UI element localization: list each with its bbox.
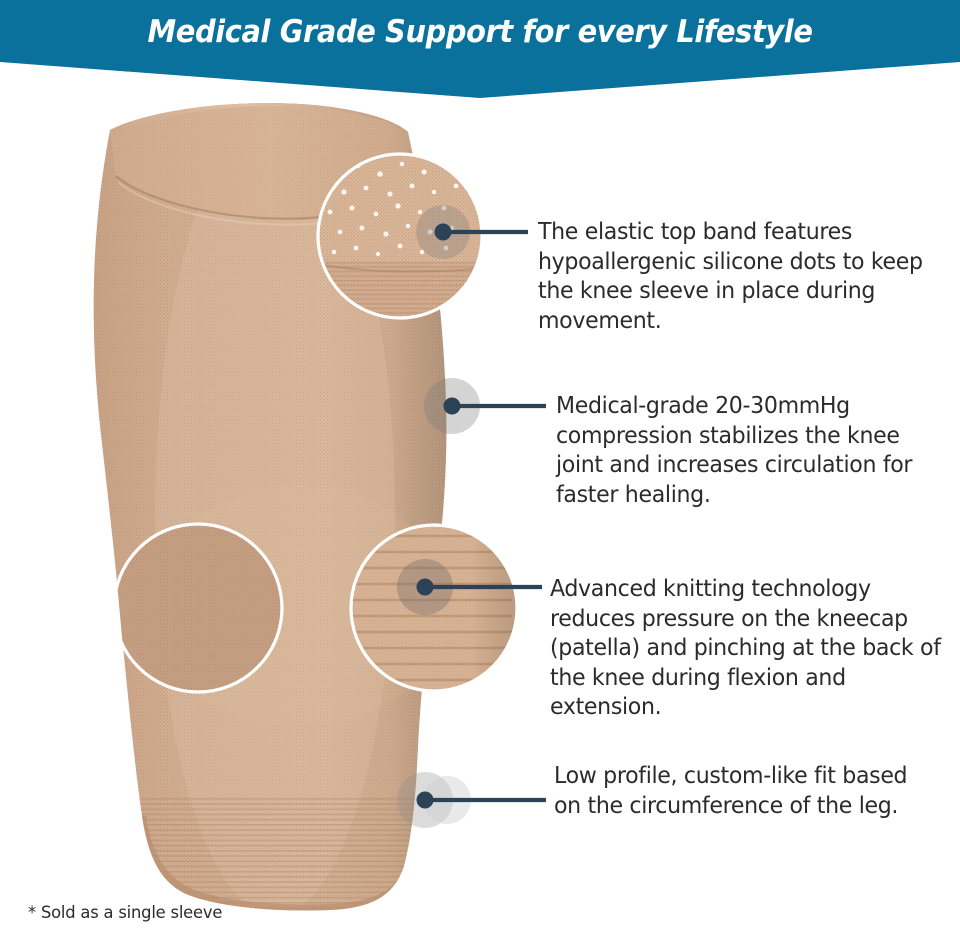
footnote: * Sold as a single sleeve <box>28 903 222 923</box>
marker-dot-4 <box>417 792 434 809</box>
feature-text-low-profile-fit: Low profile, custom-like fit based on th… <box>554 762 938 821</box>
callout-silicone-top-band[interactable] <box>416 205 528 259</box>
marker-dot-1 <box>435 224 452 241</box>
feature-text-compression-level: Medical-grade 20-30mmHg compression stab… <box>556 392 942 510</box>
callout-low-profile-fit[interactable] <box>397 772 546 828</box>
infographic-canvas: Medical Grade Support for every Lifestyl… <box>0 0 960 938</box>
feature-text-knitting-technology: Advanced knitting technology reduces pre… <box>550 575 944 723</box>
marker-dot-3 <box>417 579 434 596</box>
callout-knitting-technology[interactable] <box>397 559 542 615</box>
callout-compression-level[interactable] <box>424 378 546 434</box>
marker-dot-2 <box>444 398 461 415</box>
feature-text-silicone-top-band: The elastic top band features hypoallerg… <box>538 218 941 336</box>
